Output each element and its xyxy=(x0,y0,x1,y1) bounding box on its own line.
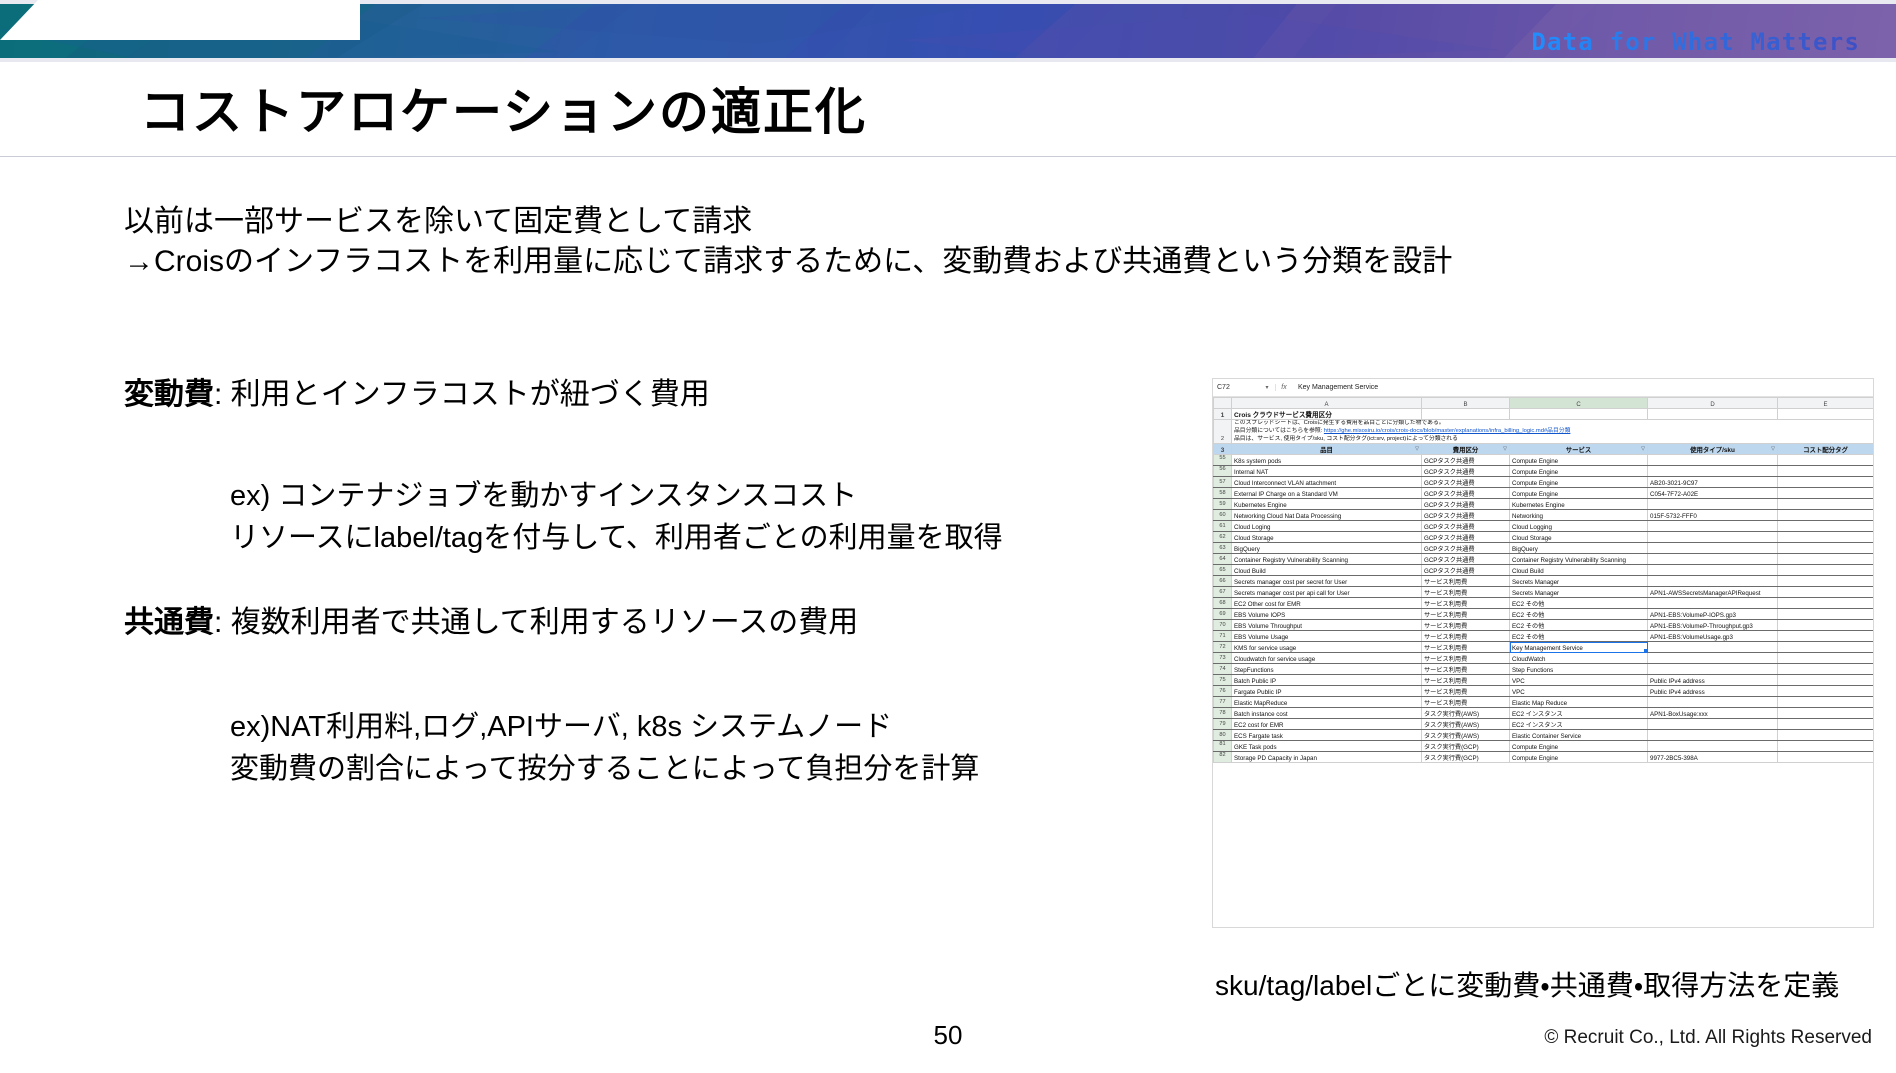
row-number[interactable]: 2 xyxy=(1214,420,1232,444)
table-row: 68EC2 Other cost for EMRサービス利用費EC2 その他 xyxy=(1214,598,1874,609)
row-number[interactable]: 55 xyxy=(1214,455,1232,466)
cell-usage-type[interactable] xyxy=(1648,730,1778,741)
header-service-label: サービス xyxy=(1566,447,1592,454)
cell-service[interactable]: EC2 その他 xyxy=(1510,609,1648,620)
cell-usage-type[interactable]: 9977-2BC5-398A xyxy=(1648,752,1778,763)
cell-service[interactable]: EC2 インスタンス xyxy=(1510,719,1648,730)
banner-bottom-edge xyxy=(0,58,1896,62)
cell-service[interactable]: EC2 インスタンス xyxy=(1510,708,1648,719)
row-number[interactable]: 64 xyxy=(1214,554,1232,565)
table-row: 62Cloud StorageGCPタスク共通費Cloud Storage xyxy=(1214,532,1874,543)
filter-icon[interactable]: ▽ xyxy=(1415,446,1419,452)
cell-service[interactable]: Elastic Container Service xyxy=(1510,730,1648,741)
row-number[interactable]: 66 xyxy=(1214,576,1232,587)
filter-icon[interactable]: ▽ xyxy=(1771,446,1775,452)
table-row: 69EBS Volume IOPSサービス利用費EC2 その他APN1-EBS:… xyxy=(1214,609,1874,620)
row-number[interactable]: 59 xyxy=(1214,499,1232,510)
row-number[interactable]: 69 xyxy=(1214,609,1232,620)
cell-cost-class[interactable]: GCPタスク共通費 xyxy=(1422,455,1510,466)
table-row: 78Batch instance costタスク実行費(AWS)EC2 インスタ… xyxy=(1214,708,1874,719)
cell-cost-class[interactable]: サービス利用費 xyxy=(1422,609,1510,620)
table-row: 77Elastic MapReduceサービス利用費Elastic Map Re… xyxy=(1214,697,1874,708)
table-row: 72KMS for service usageサービス利用費Key Manage… xyxy=(1214,642,1874,653)
cell-usage-type[interactable] xyxy=(1648,532,1778,543)
cell-item[interactable]: BigQuery xyxy=(1232,543,1422,554)
table-row: 56Internal NATGCPタスク共通費Compute Engine xyxy=(1214,466,1874,477)
cell-usage-type[interactable] xyxy=(1648,653,1778,664)
cell-item[interactable]: StepFunctions xyxy=(1232,664,1422,675)
filter-icon[interactable]: ▽ xyxy=(1503,446,1507,452)
cell-service[interactable]: Kubernetes Engine xyxy=(1510,499,1648,510)
cell-service[interactable]: Secrets Manager xyxy=(1510,587,1648,598)
name-box[interactable]: C72 xyxy=(1213,384,1259,391)
cell-cost-class[interactable]: タスク実行費(AWS) xyxy=(1422,719,1510,730)
row-number[interactable]: 79 xyxy=(1214,719,1232,730)
row-number[interactable]: 82 xyxy=(1214,752,1232,763)
row-number[interactable]: 61 xyxy=(1214,521,1232,532)
header-cost-class[interactable]: 費用区分▽ xyxy=(1422,444,1510,455)
cell-empty[interactable] xyxy=(1648,409,1778,420)
table-row: 80ECS Fargate taskタスク実行費(AWS)Elastic Con… xyxy=(1214,730,1874,741)
note-line-2-text: 品目分類についてはこちらを参照: xyxy=(1234,428,1324,434)
cell-cost-class[interactable]: GCPタスク共通費 xyxy=(1422,477,1510,488)
table-row: 67Secrets manager cost per api call for … xyxy=(1214,587,1874,598)
cell-item[interactable]: Fargate Public IP xyxy=(1232,686,1422,697)
table-row: 75Batch Public IPサービス利用費VPCPublic IPv4 a… xyxy=(1214,675,1874,686)
cell-cost-tag[interactable] xyxy=(1778,521,1874,532)
cell-cost-class[interactable]: GCPタスク共通費 xyxy=(1422,532,1510,543)
cell-cost-tag[interactable] xyxy=(1778,477,1874,488)
row-number[interactable]: 1 xyxy=(1214,409,1232,420)
row-number[interactable]: 70 xyxy=(1214,620,1232,631)
top-banner: Data for What Matters xyxy=(0,0,1896,62)
cell-cost-tag[interactable] xyxy=(1778,455,1874,466)
row-number[interactable]: 62 xyxy=(1214,532,1232,543)
cell-usage-type[interactable] xyxy=(1648,554,1778,565)
cell-service[interactable]: Compute Engine xyxy=(1510,488,1648,499)
cell-usage-type[interactable] xyxy=(1648,455,1778,466)
cell-cost-tag[interactable] xyxy=(1778,598,1874,609)
cell-cost-class[interactable]: サービス利用費 xyxy=(1422,697,1510,708)
common-cost-description: : 複数利用者で共通して利用するリソースの費用 xyxy=(214,606,858,639)
table-row: 82Storage PD Capacity in Japanタスク実行費(GCP… xyxy=(1214,752,1874,763)
row-number[interactable]: 56 xyxy=(1214,466,1232,477)
cell-usage-type[interactable]: APN1-BoxUsage:xxx xyxy=(1648,708,1778,719)
cell-cost-tag[interactable] xyxy=(1778,609,1874,620)
cell-cost-class[interactable]: GCPタスク共通費 xyxy=(1422,510,1510,521)
cell-item[interactable]: ECS Fargate task xyxy=(1232,730,1422,741)
table-row: 65Cloud BuildGCPタスク共通費Cloud Build xyxy=(1214,565,1874,576)
row-number[interactable]: 58 xyxy=(1214,488,1232,499)
row-number[interactable]: 63 xyxy=(1214,543,1232,554)
row-number[interactable]: 57 xyxy=(1214,477,1232,488)
cell-cost-class[interactable]: サービス利用費 xyxy=(1422,620,1510,631)
cell-cost-tag[interactable] xyxy=(1778,620,1874,631)
cell-usage-type[interactable]: 015F-5732-FFF0 xyxy=(1648,510,1778,521)
cell-usage-type[interactable] xyxy=(1648,598,1778,609)
common-cost-example-line2: 変動費の割合によって按分することによって負担分を計算 xyxy=(230,745,979,787)
header-cost-tag-label: コスト配分タグ xyxy=(1803,447,1848,454)
note-line-1: このスプレッドシートは、Croisに発生する費用を品目ごとに分類した物である。 xyxy=(1234,420,1871,428)
header-service[interactable]: サービス▽ xyxy=(1510,444,1648,455)
row-number[interactable]: 60 xyxy=(1214,510,1232,521)
cell-service[interactable]: BigQuery xyxy=(1510,543,1648,554)
cell-cost-class[interactable]: GCPタスク共通費 xyxy=(1422,466,1510,477)
cell-item[interactable]: Networking Cloud Nat Data Processing xyxy=(1232,510,1422,521)
cell-service[interactable]: Cloud Storage xyxy=(1510,532,1648,543)
cell-empty[interactable] xyxy=(1422,409,1510,420)
billing-logic-link[interactable]: https://ghe.misosiru.io/crois/crois-docs… xyxy=(1324,428,1570,434)
table-row: 2 このスプレッドシートは、Croisに発生する費用を品目ごとに分類した物である… xyxy=(1214,420,1874,444)
row-number[interactable]: 77 xyxy=(1214,697,1232,708)
cell-cost-tag[interactable] xyxy=(1778,532,1874,543)
row-number[interactable]: 68 xyxy=(1214,598,1232,609)
table-row: 55K8s system podsGCPタスク共通費Compute Engine xyxy=(1214,455,1874,466)
cell-usage-type[interactable]: AB20-3021-9C97 xyxy=(1648,477,1778,488)
cell-item[interactable]: Secrets manager cost per api call for Us… xyxy=(1232,587,1422,598)
cell-usage-type[interactable] xyxy=(1648,543,1778,554)
cell-cost-class[interactable]: サービス利用費 xyxy=(1422,686,1510,697)
cell-usage-type[interactable] xyxy=(1648,719,1778,730)
cell-cost-class[interactable]: GCPタスク共通費 xyxy=(1422,554,1510,565)
cell-empty[interactable] xyxy=(1510,409,1648,420)
cell-service[interactable]: CloudWatch xyxy=(1510,653,1648,664)
cell-cost-tag[interactable] xyxy=(1778,664,1874,675)
row-number[interactable]: 67 xyxy=(1214,587,1232,598)
cell-service[interactable]: EC2 その他 xyxy=(1510,631,1648,642)
cell-item[interactable]: Cloud Storage xyxy=(1232,532,1422,543)
cell-service[interactable]: Compute Engine xyxy=(1510,477,1648,488)
column-header-c[interactable]: C xyxy=(1510,398,1648,409)
row-number[interactable]: 78 xyxy=(1214,708,1232,719)
cell-usage-type[interactable]: Public IPv4 address xyxy=(1648,675,1778,686)
row-number[interactable]: 65 xyxy=(1214,565,1232,576)
note-line-2: 品目分類についてはこちらを参照: https://ghe.misosiru.io… xyxy=(1234,428,1871,436)
cell-service[interactable]: Compute Engine xyxy=(1510,752,1648,763)
column-header-a[interactable]: A xyxy=(1232,398,1422,409)
cell-cost-tag[interactable] xyxy=(1778,576,1874,587)
cell-cost-tag[interactable] xyxy=(1778,675,1874,686)
cell-usage-type[interactable]: APN1-EBS:VolumeP-IOPS.gp3 xyxy=(1648,609,1778,620)
cell-cost-class[interactable]: タスク実行費(AWS) xyxy=(1422,730,1510,741)
cell-item[interactable]: Batch instance cost xyxy=(1232,708,1422,719)
cell-cost-tag[interactable] xyxy=(1778,653,1874,664)
chevron-down-icon[interactable]: ▾ xyxy=(1259,384,1275,391)
column-header-b[interactable]: B xyxy=(1422,398,1510,409)
cell-service[interactable]: EC2 その他 xyxy=(1510,620,1648,631)
cell-cost-tag[interactable] xyxy=(1778,565,1874,576)
fx-icon: fx xyxy=(1275,384,1292,391)
cell-item[interactable]: Container Registry Vulnerability Scannin… xyxy=(1232,554,1422,565)
cell-service[interactable]: Compute Engine xyxy=(1510,741,1648,752)
corner-select-all[interactable] xyxy=(1214,398,1232,409)
cell-cost-tag[interactable] xyxy=(1778,719,1874,730)
table-row: 57Cloud Interconnect VLAN attachmentGCPタ… xyxy=(1214,477,1874,488)
cell-usage-type[interactable] xyxy=(1648,664,1778,675)
column-header-row: A B C D E xyxy=(1214,398,1874,409)
cell-usage-type[interactable]: APN1-EBS:VolumeP-Throughput.gp3 xyxy=(1648,620,1778,631)
cell-cost-class[interactable]: サービス利用費 xyxy=(1422,576,1510,587)
intro-line-previous: 以前は一部サービスを除いて固定費として請求 xyxy=(124,196,752,240)
tagline-plate xyxy=(0,0,360,40)
doc-title-cell[interactable]: Crois クラウドサービス費用区分 xyxy=(1232,409,1422,420)
header-cost-class-label: 費用区分 xyxy=(1453,447,1479,454)
row-number[interactable]: 71 xyxy=(1214,631,1232,642)
table-row: 74StepFunctionsサービス利用費Step Functions xyxy=(1214,664,1874,675)
common-cost-term: 共通費 xyxy=(124,606,214,639)
cell-cost-tag[interactable] xyxy=(1778,708,1874,719)
cell-item[interactable]: Kubernetes Engine xyxy=(1232,499,1422,510)
cell-empty[interactable] xyxy=(1778,409,1874,420)
cell-item[interactable]: Secrets manager cost per secret for User xyxy=(1232,576,1422,587)
cell-item[interactable]: Elastic MapReduce xyxy=(1232,697,1422,708)
page-title: コストアロケーションの適正化 xyxy=(140,72,867,144)
cell-cost-class[interactable]: サービス利用費 xyxy=(1422,598,1510,609)
header-item[interactable]: 品目▽ xyxy=(1232,444,1422,455)
spreadsheet-data-rows: 55K8s system podsGCPタスク共通費Compute Engine… xyxy=(1214,455,1874,763)
cell-cost-tag[interactable] xyxy=(1778,686,1874,697)
variable-cost-term: 変動費 xyxy=(124,378,214,411)
cell-cost-tag[interactable] xyxy=(1778,730,1874,741)
table-row: 61Cloud LogingGCPタスク共通費Cloud Logging xyxy=(1214,521,1874,532)
cell-cost-tag[interactable] xyxy=(1778,642,1874,653)
cell-item[interactable]: KMS for service usage xyxy=(1232,642,1422,653)
cell-usage-type[interactable] xyxy=(1648,521,1778,532)
cell-item[interactable]: Cloud Interconnect VLAN attachment xyxy=(1232,477,1422,488)
cell-service[interactable]: Cloud Logging xyxy=(1510,521,1648,532)
cell-item[interactable]: Batch Public IP xyxy=(1232,675,1422,686)
formula-bar: C72 ▾ fx Key Management Service xyxy=(1213,379,1873,397)
brand-tagline: Data for What Matters xyxy=(1531,28,1860,56)
header-usage-type-label: 使用タイプ/sku xyxy=(1690,447,1735,454)
cell-usage-type[interactable] xyxy=(1648,576,1778,587)
cell-usage-type[interactable]: C054-7F72-A02E xyxy=(1648,488,1778,499)
cell-cost-class[interactable]: GCPタスク共通費 xyxy=(1422,521,1510,532)
cell-usage-type[interactable] xyxy=(1648,697,1778,708)
cell-cost-class[interactable]: タスク実行費(GCP) xyxy=(1422,752,1510,763)
spreadsheet-caption: sku/tag/labelごとに変動費・共通費・取得方法を定義 xyxy=(1215,964,1839,1004)
cell-item[interactable]: Cloud Loging xyxy=(1232,521,1422,532)
table-row: 70EBS Volume Throughputサービス利用費EC2 その他APN… xyxy=(1214,620,1874,631)
cell-usage-type[interactable]: APN1-AWSSecretsManagerAPIRequest xyxy=(1648,587,1778,598)
table-row: 60Networking Cloud Nat Data ProcessingGC… xyxy=(1214,510,1874,521)
cell-usage-type[interactable]: APN1-EBS:VolumeUsage.gp3 xyxy=(1648,631,1778,642)
table-row: 59Kubernetes EngineGCPタスク共通費Kubernetes E… xyxy=(1214,499,1874,510)
cell-service[interactable]: Key Management Service xyxy=(1510,642,1648,653)
cell-service[interactable]: Elastic Map Reduce xyxy=(1510,697,1648,708)
row-number[interactable]: 74 xyxy=(1214,664,1232,675)
row-number[interactable]: 3 xyxy=(1214,444,1232,455)
cell-cost-tag[interactable] xyxy=(1778,543,1874,554)
header-item-label: 品目 xyxy=(1320,447,1333,454)
cell-usage-type[interactable] xyxy=(1648,565,1778,576)
column-header-e[interactable]: E xyxy=(1778,398,1874,409)
cell-cost-tag[interactable] xyxy=(1778,554,1874,565)
cell-service[interactable]: Cloud Build xyxy=(1510,565,1648,576)
cell-item[interactable]: EBS Volume Usage xyxy=(1232,631,1422,642)
row-number[interactable]: 73 xyxy=(1214,653,1232,664)
cell-service[interactable]: Compute Engine xyxy=(1510,466,1648,477)
doc-note-cell[interactable]: このスプレッドシートは、Croisに発生する費用を品目ごとに分類した物である。 … xyxy=(1232,420,1874,444)
cell-usage-type[interactable] xyxy=(1648,642,1778,653)
cell-item[interactable]: Cloudwatch for service usage xyxy=(1232,653,1422,664)
cell-cost-class[interactable]: サービス利用費 xyxy=(1422,631,1510,642)
cell-item[interactable]: Cloud Build xyxy=(1232,565,1422,576)
filter-icon[interactable]: ▽ xyxy=(1641,446,1645,452)
cell-cost-class[interactable]: GCPタスク共通費 xyxy=(1422,499,1510,510)
table-row: 64Container Registry Vulnerability Scann… xyxy=(1214,554,1874,565)
cell-cost-class[interactable]: タスク実行費(GCP) xyxy=(1422,741,1510,752)
column-header-d[interactable]: D xyxy=(1648,398,1778,409)
cell-cost-tag[interactable] xyxy=(1778,697,1874,708)
variable-cost-heading: 変動費: 利用とインフラコストが紐づく費用 xyxy=(124,369,710,413)
cell-cost-tag[interactable] xyxy=(1778,752,1874,763)
header-usage-type[interactable]: 使用タイプ/sku▽ xyxy=(1648,444,1778,455)
table-row: 66Secrets manager cost per secret for Us… xyxy=(1214,576,1874,587)
header-cost-tag[interactable]: コスト配分タグ xyxy=(1778,444,1874,455)
table-row: 81GKE Task podsタスク実行費(GCP)Compute Engine xyxy=(1214,741,1874,752)
cell-cost-class[interactable]: タスク実行費(AWS) xyxy=(1422,708,1510,719)
cell-item[interactable]: K8s system pods xyxy=(1232,455,1422,466)
cell-cost-class[interactable]: サービス利用費 xyxy=(1422,664,1510,675)
table-header-row: 3 品目▽ 費用区分▽ サービス▽ 使用タイプ/sku▽ コスト配分タグ xyxy=(1214,444,1874,455)
cell-cost-class[interactable]: サービス利用費 xyxy=(1422,675,1510,686)
cell-cost-tag[interactable] xyxy=(1778,587,1874,598)
table-row: 1 Crois クラウドサービス費用区分 xyxy=(1214,409,1874,420)
cell-service[interactable]: VPC xyxy=(1510,686,1648,697)
cell-item[interactable]: GKE Task pods xyxy=(1232,741,1422,752)
cell-cost-tag[interactable] xyxy=(1778,510,1874,521)
cell-usage-type[interactable]: Public IPv4 address xyxy=(1648,686,1778,697)
cell-cost-tag[interactable] xyxy=(1778,499,1874,510)
cell-item[interactable]: EC2 cost for EMR xyxy=(1232,719,1422,730)
title-divider xyxy=(0,156,1896,157)
cell-cost-tag[interactable] xyxy=(1778,631,1874,642)
cell-service[interactable]: Networking xyxy=(1510,510,1648,521)
cell-item[interactable]: Internal NAT xyxy=(1232,466,1422,477)
cell-service[interactable]: EC2 その他 xyxy=(1510,598,1648,609)
note-line-3: 品目は、サービス, 使用タイプ/sku, コスト配分タグ(ict:srv, pr… xyxy=(1234,436,1871,444)
cell-item[interactable]: EBS Volume IOPS xyxy=(1232,609,1422,620)
cell-service[interactable]: Step Functions xyxy=(1510,664,1648,675)
row-number[interactable]: 81 xyxy=(1214,741,1232,752)
variable-cost-example-line1: ex) コンテナジョブを動かすインスタンスコスト xyxy=(230,472,857,514)
cell-service[interactable]: VPC xyxy=(1510,675,1648,686)
spreadsheet-grid: A B C D E 1 Crois クラウドサービス費用区分 2 このスプレッド… xyxy=(1213,397,1874,763)
cell-usage-type[interactable] xyxy=(1648,466,1778,477)
cell-usage-type[interactable] xyxy=(1648,741,1778,752)
cell-service[interactable]: Container Registry Vulnerability Scannin… xyxy=(1510,554,1648,565)
cell-usage-type[interactable] xyxy=(1648,499,1778,510)
cell-item[interactable]: External IP Charge on a Standard VM xyxy=(1232,488,1422,499)
table-row: 76Fargate Public IPサービス利用費VPCPublic IPv4… xyxy=(1214,686,1874,697)
table-row: 63BigQueryGCPタスク共通費BigQuery xyxy=(1214,543,1874,554)
common-cost-heading: 共通費: 複数利用者で共通して利用するリソースの費用 xyxy=(124,597,858,641)
cell-service[interactable]: Compute Engine xyxy=(1510,455,1648,466)
formula-input[interactable]: Key Management Service xyxy=(1292,384,1378,391)
cell-cost-class[interactable]: GCPタスク共通費 xyxy=(1422,543,1510,554)
row-number[interactable]: 80 xyxy=(1214,730,1232,741)
cell-cost-class[interactable]: サービス利用費 xyxy=(1422,587,1510,598)
cell-cost-class[interactable]: GCPタスク共通費 xyxy=(1422,565,1510,576)
table-row: 71EBS Volume Usageサービス利用費EC2 その他APN1-EBS… xyxy=(1214,631,1874,642)
table-row: 73Cloudwatch for service usageサービス利用費Clo… xyxy=(1214,653,1874,664)
variable-cost-example-line2: リソースにlabel/tagを付与して、利用者ごとの利用量を取得 xyxy=(230,514,1003,556)
row-number[interactable]: 75 xyxy=(1214,675,1232,686)
table-row: 58External IP Charge on a Standard VMGCP… xyxy=(1214,488,1874,499)
cell-cost-class[interactable]: GCPタスク共通費 xyxy=(1422,488,1510,499)
variable-cost-description: : 利用とインフラコストが紐づく費用 xyxy=(214,378,710,411)
cell-item[interactable]: EC2 Other cost for EMR xyxy=(1232,598,1422,609)
cell-service[interactable]: Secrets Manager xyxy=(1510,576,1648,587)
cell-cost-class[interactable]: サービス利用費 xyxy=(1422,653,1510,664)
cell-cost-tag[interactable] xyxy=(1778,488,1874,499)
table-row: 79EC2 cost for EMRタスク実行費(AWS)EC2 インスタンス xyxy=(1214,719,1874,730)
intro-line-design: →Croisのインフラコストを利用量に応じて請求するために、変動費および共通費と… xyxy=(124,236,1452,280)
cell-item[interactable]: Storage PD Capacity in Japan xyxy=(1232,752,1422,763)
cell-cost-tag[interactable] xyxy=(1778,741,1874,752)
row-number[interactable]: 72 xyxy=(1214,642,1232,653)
cell-item[interactable]: EBS Volume Throughput xyxy=(1232,620,1422,631)
row-number[interactable]: 76 xyxy=(1214,686,1232,697)
common-cost-example-line1: ex)NAT利用料,ログ,APIサーバ, k8s システムノード xyxy=(230,703,892,745)
copyright-notice: © Recruit Co., Ltd. All Rights Reserved xyxy=(1544,1027,1872,1049)
cell-cost-tag[interactable] xyxy=(1778,466,1874,477)
cell-cost-class[interactable]: サービス利用費 xyxy=(1422,642,1510,653)
spreadsheet-screenshot: C72 ▾ fx Key Management Service A B C D … xyxy=(1212,378,1874,928)
